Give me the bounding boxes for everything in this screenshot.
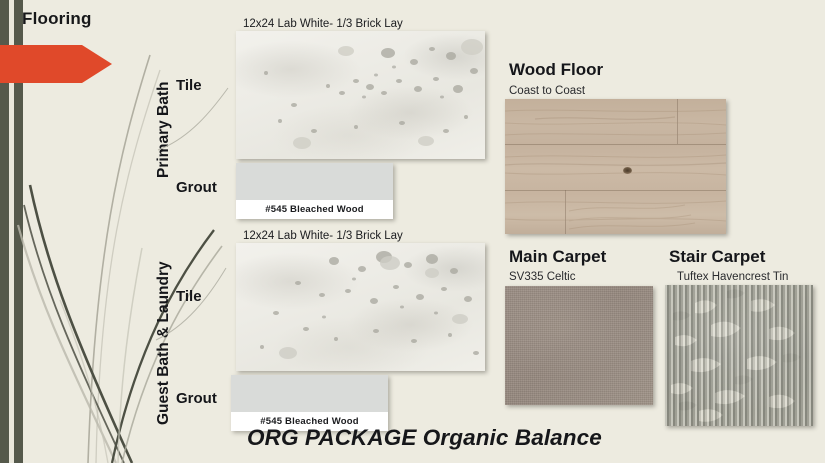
flooring-selection-board: Flooring Primary Bath Guest Bath & Laund… (0, 0, 825, 463)
tile-speckles (236, 31, 485, 159)
row-label-tile-guest: Tile (176, 288, 202, 305)
wood-grain (505, 99, 726, 234)
stair-carpet-subheading: Tuftex Havencrest Tin (677, 271, 788, 283)
grout-swatch-primary[interactable]: #545 Bleached Wood (236, 163, 393, 219)
room-label-primary-bath: Primary Bath (155, 82, 173, 178)
wood-floor-subheading: Coast to Coast (509, 85, 585, 97)
stair-carpet-swatch[interactable] (665, 285, 813, 426)
row-label-grout-guest: Grout (176, 390, 217, 407)
tile-caption-primary: 12x24 Lab White- 1/3 Brick Lay (243, 18, 403, 30)
package-title: ORG PACKAGE Organic Balance (247, 425, 602, 451)
tile-swatch-primary[interactable] (236, 31, 485, 159)
page-title: Flooring (22, 9, 92, 29)
main-carpet-heading: Main Carpet (509, 247, 606, 267)
carpet-noise-overlay (505, 286, 653, 405)
stair-carpet-heading: Stair Carpet (669, 247, 765, 267)
wood-floor-swatch[interactable] (505, 99, 726, 234)
grout-color-chip (236, 163, 393, 200)
accent-arrow (0, 45, 112, 83)
tile-swatch-guest[interactable] (236, 243, 485, 371)
tile-caption-guest: 12x24 Lab White- 1/3 Brick Lay (243, 230, 403, 242)
main-carpet-swatch[interactable] (505, 286, 653, 405)
grout-color-chip (231, 375, 388, 412)
room-label-guest-bath-laundry: Guest Bath & Laundry (155, 261, 173, 425)
stair-carpet-sheen (665, 285, 813, 426)
tile-speckles (236, 243, 485, 371)
grout-swatch-guest[interactable]: #545 Bleached Wood (231, 375, 388, 431)
wood-floor-heading: Wood Floor (509, 60, 603, 80)
main-carpet-subheading: SV335 Celtic (509, 271, 575, 283)
row-label-tile-primary: Tile (176, 77, 202, 94)
grout-caption-primary: #545 Bleached Wood (236, 200, 393, 219)
row-label-grout-primary: Grout (176, 179, 217, 196)
